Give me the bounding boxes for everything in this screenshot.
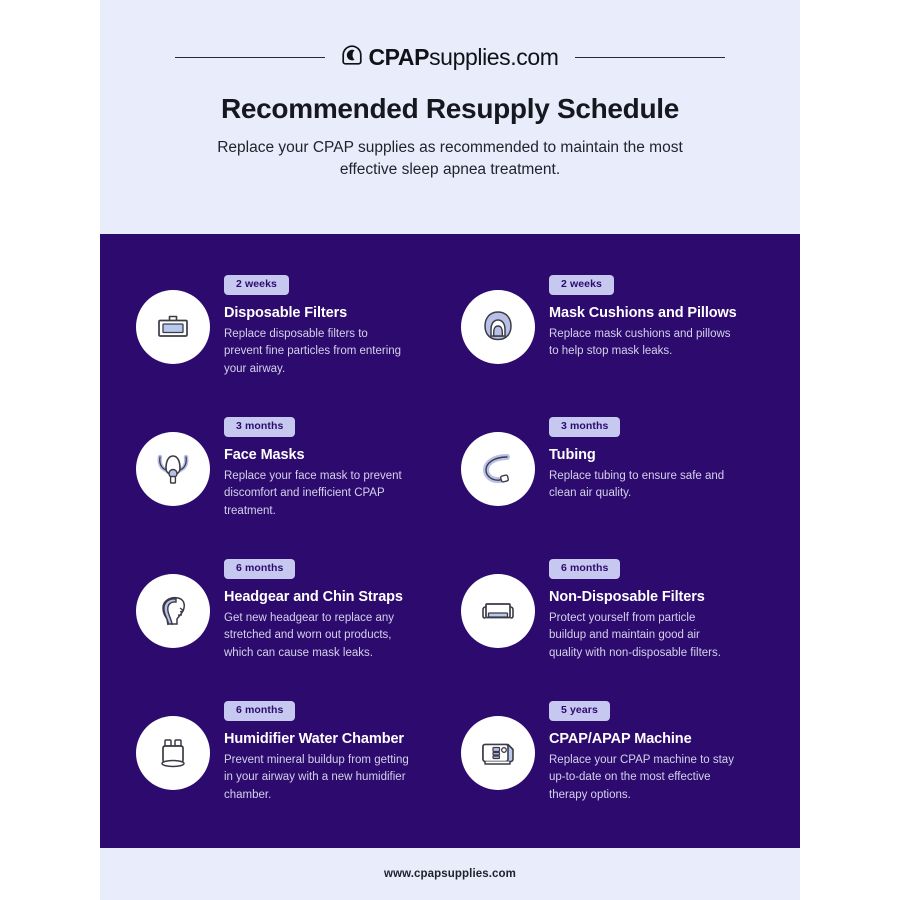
schedule-panel: 2 weeks Disposable Filters Replace dispo… [100, 234, 800, 848]
moon-house-icon [341, 44, 363, 71]
item-title: Face Masks [224, 447, 439, 463]
item-title: Tubing [549, 447, 764, 463]
item-description: Replace your CPAP machine to stay up-to-… [549, 752, 734, 805]
item-description: Replace your face mask to prevent discom… [224, 468, 409, 521]
item-description: Replace disposable filters to prevent fi… [224, 326, 409, 379]
item-body: 6 months Humidifier Water Chamber Preven… [224, 698, 439, 805]
schedule-grid: 2 weeks Disposable Filters Replace dispo… [136, 272, 764, 840]
interval-badge: 3 months [549, 417, 620, 437]
cpap-machine-icon [477, 732, 519, 774]
icon-badge [461, 432, 535, 506]
interval-badge: 6 months [224, 559, 295, 579]
item-title: Mask Cushions and Pillows [549, 305, 764, 321]
schedule-item: 6 months Headgear and Chin Straps Get ne… [136, 556, 439, 698]
schedule-item: 3 months Face Masks Replace your face ma… [136, 414, 439, 556]
icon-badge [461, 716, 535, 790]
schedule-item: 3 months Tubing Replace tubing to ensure… [461, 414, 764, 556]
footer-url[interactable]: www.cpapsupplies.com [384, 868, 516, 880]
item-title: Disposable Filters [224, 305, 439, 321]
item-title: Non-Disposable Filters [549, 589, 764, 605]
brand-name: CPAPsupplies.com [368, 46, 558, 69]
interval-badge: 3 months [224, 417, 295, 437]
item-description: Prevent mineral buildup from getting in … [224, 752, 409, 805]
icon-badge [136, 716, 210, 790]
interval-badge: 6 months [549, 559, 620, 579]
item-description: Replace mask cushions and pillows to hel… [549, 326, 734, 362]
footer: www.cpapsupplies.com [100, 848, 800, 900]
mask-cushion-icon [477, 306, 519, 348]
brand-logo-row: CPAPsupplies.com [128, 0, 772, 71]
infographic-page: CPAPsupplies.com Recommended Resupply Sc… [0, 0, 900, 900]
non-disposable-filter-icon [477, 590, 519, 632]
icon-badge [461, 574, 535, 648]
item-description: Get new headgear to replace any stretche… [224, 610, 409, 663]
icon-badge [136, 574, 210, 648]
item-body: 2 weeks Mask Cushions and Pillows Replac… [549, 272, 764, 361]
face-mask-icon [152, 448, 194, 490]
icon-badge [136, 290, 210, 364]
tubing-icon [477, 448, 519, 490]
page-subtitle: Replace your CPAP supplies as recommende… [200, 137, 700, 182]
brand-name-bold: CPAP [368, 44, 429, 70]
logo-rule-left [175, 57, 325, 58]
icon-badge [461, 290, 535, 364]
schedule-item: 2 weeks Mask Cushions and Pillows Replac… [461, 272, 764, 414]
interval-badge: 2 weeks [224, 275, 289, 295]
interval-badge: 5 years [549, 701, 610, 721]
item-body: 3 months Face Masks Replace your face ma… [224, 414, 439, 521]
schedule-item: 6 months Non-Disposable Filters Protect … [461, 556, 764, 698]
item-body: 6 months Non-Disposable Filters Protect … [549, 556, 764, 663]
item-body: 6 months Headgear and Chin Straps Get ne… [224, 556, 439, 663]
brand-logo[interactable]: CPAPsupplies.com [341, 44, 558, 71]
schedule-item: 2 weeks Disposable Filters Replace dispo… [136, 272, 439, 414]
item-title: Headgear and Chin Straps [224, 589, 439, 605]
headgear-icon [152, 590, 194, 632]
humidifier-chamber-icon [152, 732, 194, 774]
interval-badge: 2 weeks [549, 275, 614, 295]
disposable-filter-icon [152, 306, 194, 348]
logo-rule-right [575, 57, 725, 58]
schedule-item: 6 months Humidifier Water Chamber Preven… [136, 698, 439, 840]
item-title: CPAP/APAP Machine [549, 731, 764, 747]
item-title: Humidifier Water Chamber [224, 731, 439, 747]
header: CPAPsupplies.com Recommended Resupply Sc… [100, 0, 800, 234]
item-description: Protect yourself from particle buildup a… [549, 610, 734, 663]
item-body: 3 months Tubing Replace tubing to ensure… [549, 414, 764, 503]
item-body: 2 weeks Disposable Filters Replace dispo… [224, 272, 439, 379]
item-description: Replace tubing to ensure safe and clean … [549, 468, 734, 504]
page-title: Recommended Resupply Schedule [128, 93, 772, 125]
interval-badge: 6 months [224, 701, 295, 721]
schedule-item: 5 years CPAP/APAP Machine Replace your C… [461, 698, 764, 840]
item-body: 5 years CPAP/APAP Machine Replace your C… [549, 698, 764, 805]
brand-name-light: supplies.com [429, 44, 558, 70]
icon-badge [136, 432, 210, 506]
